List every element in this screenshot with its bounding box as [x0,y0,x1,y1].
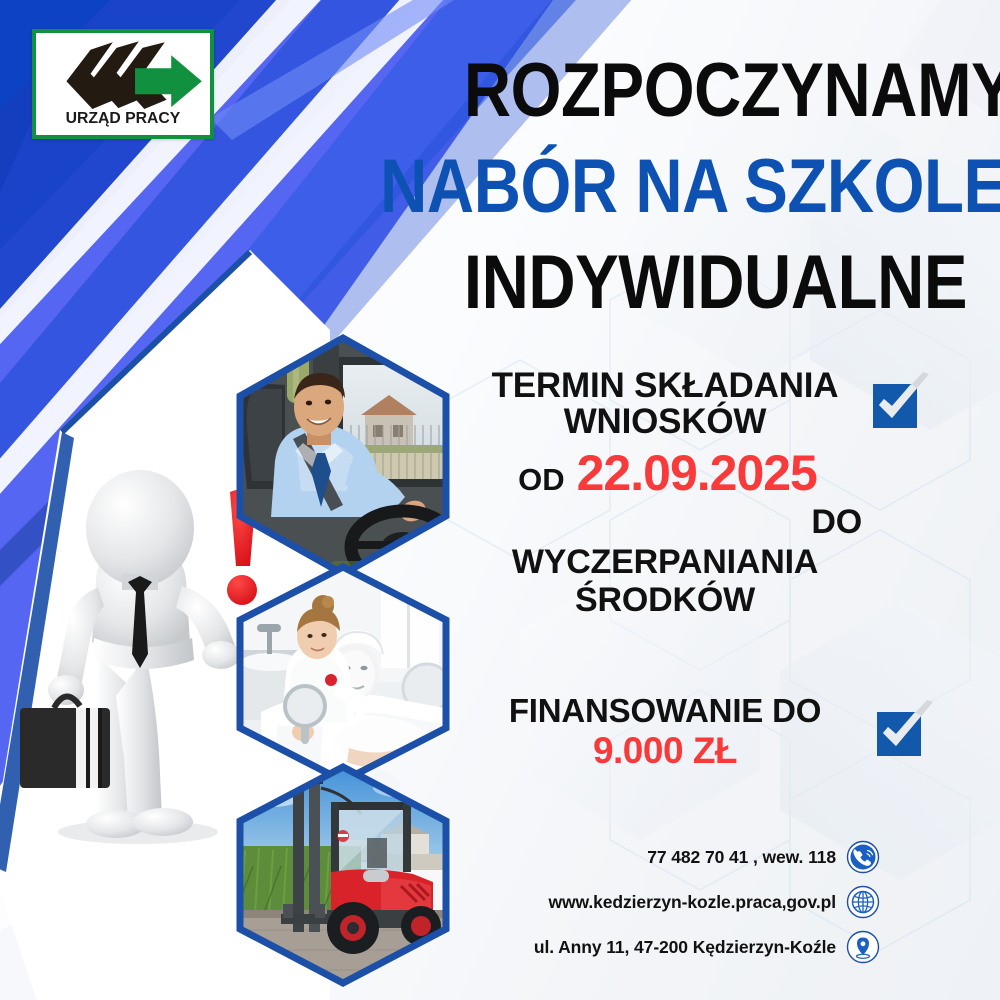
headline-line-2: NABÓR NA SZKOLENIA [380,152,935,222]
bus-driver-photo [231,333,455,579]
headline-line-3: INDYWIDUALNE [464,248,941,318]
contact-address-text: ul. Anny 11, 47-200 Kędzierzyn-Koźle [534,937,836,958]
checkbox-funding-icon [871,700,935,762]
deadline-label-line-1: TERMIN SKŁADANIA [455,368,875,404]
cosmetology-photo-content [231,562,455,786]
funding-amount: 9.000 ZŁ [455,730,875,772]
contact-phone-text: 77 482 70 41 , wew. 118 [647,847,836,868]
urzad-pracy-logo-icon: URZĄD PRACY [36,33,210,135]
forklift-photo [231,762,455,988]
funding-label: FINANSOWANIE DO [455,694,875,728]
headline-line-1: ROZPOCZYNAMY [464,56,941,126]
phone-icon [846,840,880,874]
deadline-date-line: OD22.09.2025 [455,444,880,502]
deadline-until-line-2: WYCZERPANIANIA [440,545,890,580]
deadline-label-line-2: WNIOSKÓW [455,404,875,440]
contact-row-phone[interactable]: 77 482 70 41 , wew. 118 [440,840,880,874]
deadline-until-line-1: DO [455,505,880,540]
cosmetology-photo [231,562,455,786]
deadline-date-value: 22.09.2025 [577,445,817,501]
deadline-until-line-3: ŚRODKÓW [440,583,890,618]
deadline-from-word: OD [518,462,565,497]
checkbox-deadline-icon [867,372,931,434]
bus-driver-photo-content [231,333,455,579]
forklift-photo-content [231,762,455,988]
contact-website-text: www.kedzierzyn-kozle.praca,gov.pl [549,892,836,913]
globe-icon [846,885,880,919]
urzad-pracy-logo: URZĄD PRACY [32,29,214,139]
poster-canvas: URZĄD PRACY [0,0,1000,1000]
logo-text: URZĄD PRACY [66,110,181,127]
contact-row-website[interactable]: www.kedzierzyn-kozle.praca,gov.pl [440,885,880,919]
contact-row-address[interactable]: ul. Anny 11, 47-200 Kędzierzyn-Koźle [440,930,880,964]
location-pin-icon [846,930,880,964]
